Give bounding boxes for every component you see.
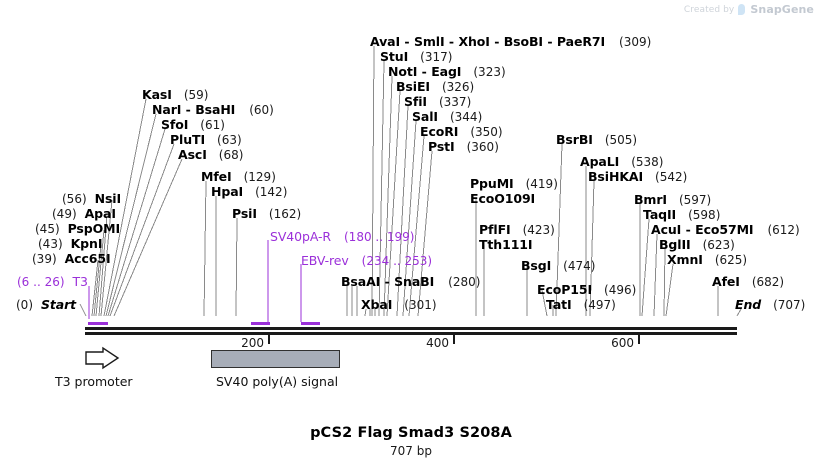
label-end-row[interactable]: End(707)	[735, 298, 805, 312]
label-bsrbi-row[interactable]: BsrBI(505)	[556, 133, 637, 147]
watermark-prefix: Created by	[684, 5, 735, 15]
label-position: (0)	[16, 298, 33, 312]
label-name: BsrBI	[556, 132, 593, 147]
label-position: (598)	[688, 208, 720, 222]
label-name: TatI	[546, 297, 572, 312]
label-name: BsgI	[521, 258, 551, 273]
label-name: BsiEI	[396, 79, 430, 94]
label-name: End	[735, 297, 761, 312]
label-noti-row[interactable]: NotI - EagI(323)	[388, 65, 506, 79]
label-start-row[interactable]: (0) Start	[16, 298, 76, 312]
label-name: MfeI	[201, 169, 232, 184]
label-ppumi-row[interactable]: PpuMI(419)	[470, 177, 558, 191]
label-position: (682)	[752, 275, 784, 289]
label-position: (326)	[442, 80, 474, 94]
label-sfii-row[interactable]: SfiI(337)	[404, 95, 471, 109]
label-ecoo109i-row[interactable]: EcoO109I	[470, 192, 535, 205]
label-asci-row[interactable]: AscI(68)	[178, 148, 243, 162]
label-position: (180 .. 199)	[344, 230, 414, 244]
label-psti-row[interactable]: PstI(360)	[428, 140, 499, 154]
ruler-tick-label-400: 400	[403, 336, 449, 350]
label-name: SfiI	[404, 94, 427, 109]
label-name: StuI	[380, 49, 408, 64]
watermark-brand: SnapGene	[750, 3, 814, 16]
label-bsgi-row[interactable]: BsgI(474)	[521, 259, 595, 273]
label-name: PluTI	[170, 132, 205, 147]
label-sv40par-row[interactable]: SV40pA-R(180 .. 199)	[270, 230, 414, 244]
label-name: PaeR7I	[557, 34, 605, 49]
dna-backbone-top-strand	[85, 327, 737, 330]
label-position: (707)	[773, 298, 805, 312]
plasmid-length: 707 bp	[0, 444, 822, 458]
label-position: (301)	[404, 298, 436, 312]
label-name: NotI	[388, 64, 417, 79]
label-name: KasI	[142, 87, 172, 102]
label-name: EcoP15I	[537, 282, 592, 297]
label-name: AscI	[178, 147, 207, 162]
plasmid-title: pCS2 Flag Smad3 S208A	[0, 425, 822, 441]
label-position: (280)	[448, 275, 480, 289]
label-name: NarI	[152, 102, 181, 117]
label-name: Eco57MI	[695, 222, 753, 237]
label-ebvrev-row[interactable]: EBV-rev(234 .. 253)	[301, 254, 432, 268]
snapgene-watermark: Created by SnapGene	[684, 3, 814, 16]
label-acc65i-row[interactable]: (39) Acc65I	[32, 252, 111, 266]
label-acui-row[interactable]: AcuI - Eco57MI(612)	[651, 223, 800, 237]
label-position: (142)	[255, 185, 287, 199]
label-name: PspOMI	[68, 221, 120, 236]
label-name: BglII	[659, 237, 691, 252]
label-name: AcuI	[651, 222, 681, 237]
snapgene-logo-icon	[738, 4, 745, 15]
label-position: (497)	[584, 298, 616, 312]
label-position: (59)	[184, 88, 209, 102]
label-avai-row[interactable]: AvaI - SmlI - XhoI - BsoBI - PaeR7I(309)	[370, 35, 651, 49]
label-bsiei-row[interactable]: BsiEI(326)	[396, 80, 474, 94]
ruler-tick-label-600: 600	[588, 336, 634, 350]
label-separator: -	[490, 34, 504, 49]
label-tth111i-row[interactable]: Tth111I	[479, 238, 532, 251]
label-separator: -	[181, 102, 195, 117]
label-xbai-row[interactable]: XbaI(301)	[361, 298, 437, 312]
label-position: (623)	[703, 238, 735, 252]
label-name: XhoI	[458, 34, 489, 49]
label-nsii-row[interactable]: (56) NsiI	[62, 192, 121, 206]
label-name: ApaLI	[580, 154, 619, 169]
label-hpai-row[interactable]: HpaI(142)	[211, 185, 287, 199]
title-block: pCS2 Flag Smad3 S208A 707 bp	[0, 425, 822, 458]
sv40-polya-signal-label: SV40 poly(A) signal	[216, 374, 338, 389]
label-position: (68)	[219, 148, 244, 162]
label-afei-row[interactable]: AfeI(682)	[712, 275, 784, 289]
plasmid-map-canvas: Created by SnapGene	[0, 0, 822, 468]
label-position: (39)	[32, 252, 57, 266]
label-name: BsaHI	[195, 102, 235, 117]
label-name: Acc65I	[65, 251, 111, 266]
label-name: SfoI	[161, 117, 188, 132]
label-apali-row[interactable]: ApaLI(538)	[580, 155, 663, 169]
label-bmri-row[interactable]: BmrI(597)	[634, 193, 711, 207]
label-psii-row[interactable]: PsiI(162)	[232, 207, 301, 221]
ruler-tick-label-200: 200	[218, 336, 264, 350]
label-name: TaqII	[643, 207, 676, 222]
label-position: (60)	[249, 103, 274, 117]
label-position: (337)	[439, 95, 471, 109]
label-name: BsoBI	[504, 34, 543, 49]
label-name: PstI	[428, 139, 455, 154]
label-position: (129)	[244, 170, 276, 184]
label-separator: -	[543, 34, 557, 49]
label-position: (43)	[38, 237, 63, 251]
label-position: (612)	[767, 223, 799, 237]
label-name: AvaI	[370, 34, 400, 49]
label-name: HpaI	[211, 184, 243, 199]
label-name: PsiI	[232, 206, 257, 221]
label-mfei-row[interactable]: MfeI(129)	[201, 170, 276, 184]
ruler-tick-600	[638, 335, 640, 344]
label-position: (423)	[523, 223, 555, 237]
label-position: (56)	[62, 192, 87, 206]
label-ecop15i-row[interactable]: EcoP15I(496)	[537, 283, 636, 297]
feature-bar-t3[interactable]	[88, 322, 108, 325]
label-position: (360)	[467, 140, 499, 154]
label-apai-row[interactable]: (49) ApaI	[52, 207, 116, 221]
label-name: EcoRI	[420, 124, 458, 139]
label-name: BmrI	[634, 192, 667, 207]
label-position: (309)	[619, 35, 651, 49]
label-position: (505)	[605, 133, 637, 147]
label-position: (542)	[655, 170, 687, 184]
label-position: (6 .. 26)	[17, 275, 65, 289]
label-sali-row[interactable]: SalI(344)	[412, 110, 482, 124]
label-name: SnaBI	[394, 274, 434, 289]
sv40-polya-signal-box[interactable]	[211, 350, 340, 368]
label-name: SalI	[412, 109, 438, 124]
label-name: T3	[72, 274, 87, 289]
label-position: (474)	[563, 259, 595, 273]
label-pflfi-row[interactable]: PflFI(423)	[479, 223, 555, 237]
label-pspomi-row[interactable]: (45) PspOMI	[35, 222, 120, 236]
label-position: (63)	[217, 133, 242, 147]
label-tati-row[interactable]: TatI(497)	[546, 298, 616, 312]
label-position: (234 .. 253)	[362, 254, 432, 268]
label-bglii-row[interactable]: BglII(623)	[659, 238, 735, 252]
label-position: (61)	[200, 118, 225, 132]
label-stui-row[interactable]: StuI(317)	[380, 50, 452, 64]
label-position: (419)	[526, 177, 558, 191]
label-separator: -	[681, 222, 695, 237]
label-position: (323)	[473, 65, 505, 79]
feature-bar-sv40pa-r[interactable]	[251, 322, 270, 325]
label-separator: -	[400, 34, 414, 49]
label-position: (625)	[715, 253, 747, 267]
label-taqii-row[interactable]: TaqII(598)	[643, 208, 720, 222]
ruler-tick-200	[268, 335, 270, 344]
label-name: EBV-rev	[301, 253, 349, 268]
label-name: BsiHKAI	[588, 169, 643, 184]
label-position: (49)	[52, 207, 77, 221]
label-position: (344)	[450, 110, 482, 124]
label-name: BsaAI	[341, 274, 380, 289]
label-position: (162)	[269, 207, 301, 221]
label-bsihkai-row[interactable]: BsiHKAI(542)	[588, 170, 687, 184]
label-name: XbaI	[361, 297, 392, 312]
label-name: KpnI	[71, 236, 103, 251]
label-name: NsiI	[95, 191, 121, 206]
label-position: (350)	[470, 125, 502, 139]
label-t3-row[interactable]: (6 .. 26) T3	[17, 275, 88, 289]
label-kasi-row[interactable]: KasI(59)	[142, 88, 208, 102]
t3-promoter-label: T3 promoter	[55, 374, 133, 389]
label-xmni-row[interactable]: XmnI(625)	[667, 253, 747, 267]
arrow-right-icon	[84, 346, 120, 370]
label-name: PpuMI	[470, 176, 514, 191]
label-nari-row[interactable]: NarI - BsaHI(60)	[152, 103, 274, 117]
label-name: PflFI	[479, 222, 511, 237]
label-sfoi-row[interactable]: SfoI(61)	[161, 118, 225, 132]
label-name: EagI	[431, 64, 461, 79]
label-separator: -	[445, 34, 459, 49]
label-name: EcoO109I	[470, 191, 535, 206]
feature-bar-ebv-rev[interactable]	[301, 322, 320, 325]
label-name: SmlI	[414, 34, 445, 49]
t3-promoter-arrow[interactable]	[84, 346, 120, 370]
label-name: XmnI	[667, 252, 703, 267]
label-position: (45)	[35, 222, 60, 236]
label-name: Start	[41, 297, 76, 312]
label-bsaai-row[interactable]: BsaAI - SnaBI(280)	[341, 275, 480, 289]
ruler-tick-400	[453, 335, 455, 344]
label-name: AfeI	[712, 274, 740, 289]
label-position: (317)	[420, 50, 452, 64]
label-separator: -	[380, 274, 394, 289]
label-separator: -	[417, 64, 431, 79]
label-kpni-row[interactable]: (43) KpnI	[38, 237, 102, 251]
label-name: Tth111I	[479, 237, 532, 252]
label-position: (496)	[604, 283, 636, 297]
label-name: SV40pA-R	[270, 229, 331, 244]
label-pluti-row[interactable]: PluTI(63)	[170, 133, 242, 147]
label-name: ApaI	[85, 206, 116, 221]
label-position: (597)	[679, 193, 711, 207]
label-ecori-row[interactable]: EcoRI(350)	[420, 125, 503, 139]
label-position: (538)	[631, 155, 663, 169]
